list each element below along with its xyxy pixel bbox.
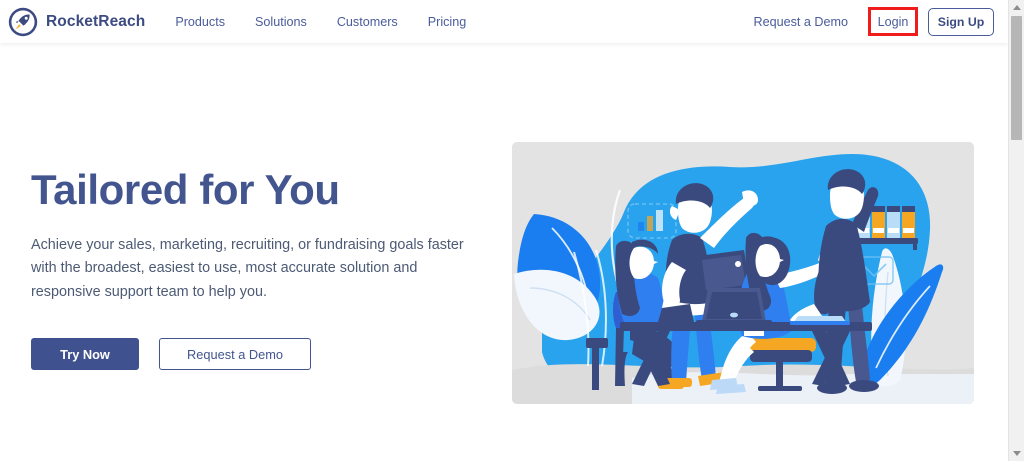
brand-logo-link[interactable]: RocketReach	[8, 7, 145, 37]
hero-copy: Tailored for You Achieve your sales, mar…	[31, 168, 491, 370]
nav-item-pricing[interactable]: Pricing	[428, 15, 467, 29]
primary-nav: Products Solutions Customers Pricing	[175, 15, 466, 29]
scroll-up-arrow-icon[interactable]	[1009, 0, 1024, 15]
scroll-thumb[interactable]	[1011, 16, 1022, 140]
nav-item-customers[interactable]: Customers	[337, 15, 398, 29]
hero-cta-group: Try Now Request a Demo	[31, 338, 491, 370]
hero-subtitle: Achieve your sales, marketing, recruitin…	[31, 234, 483, 304]
header-actions: Request a Demo Login Sign Up	[753, 7, 1008, 36]
nav-item-solutions[interactable]: Solutions	[255, 15, 307, 29]
site-header: RocketReach Products Solutions Customers…	[0, 0, 1008, 43]
hero-section: Tailored for You Achieve your sales, mar…	[0, 43, 1008, 461]
team-collaboration-illustration	[512, 142, 974, 404]
scroll-up-arrow-glyph	[1013, 5, 1021, 10]
page-scrollbar[interactable]	[1008, 0, 1024, 461]
nav-item-products[interactable]: Products	[175, 15, 225, 29]
request-demo-link[interactable]: Request a Demo	[753, 15, 848, 29]
rocket-logo-icon	[8, 7, 38, 37]
scroll-down-arrow-glyph	[1013, 451, 1021, 456]
sign-up-button[interactable]: Sign Up	[928, 8, 994, 36]
request-demo-button[interactable]: Request a Demo	[159, 338, 311, 370]
try-now-button[interactable]: Try Now	[31, 338, 139, 370]
brand-name: RocketReach	[46, 13, 145, 31]
rocketreach-landing-page: RocketReach Products Solutions Customers…	[0, 0, 1024, 461]
login-link[interactable]: Login	[878, 15, 909, 29]
page-title: Tailored for You	[31, 168, 491, 212]
scroll-down-arrow-icon[interactable]	[1009, 446, 1024, 461]
login-highlight-box: Login	[868, 7, 918, 36]
